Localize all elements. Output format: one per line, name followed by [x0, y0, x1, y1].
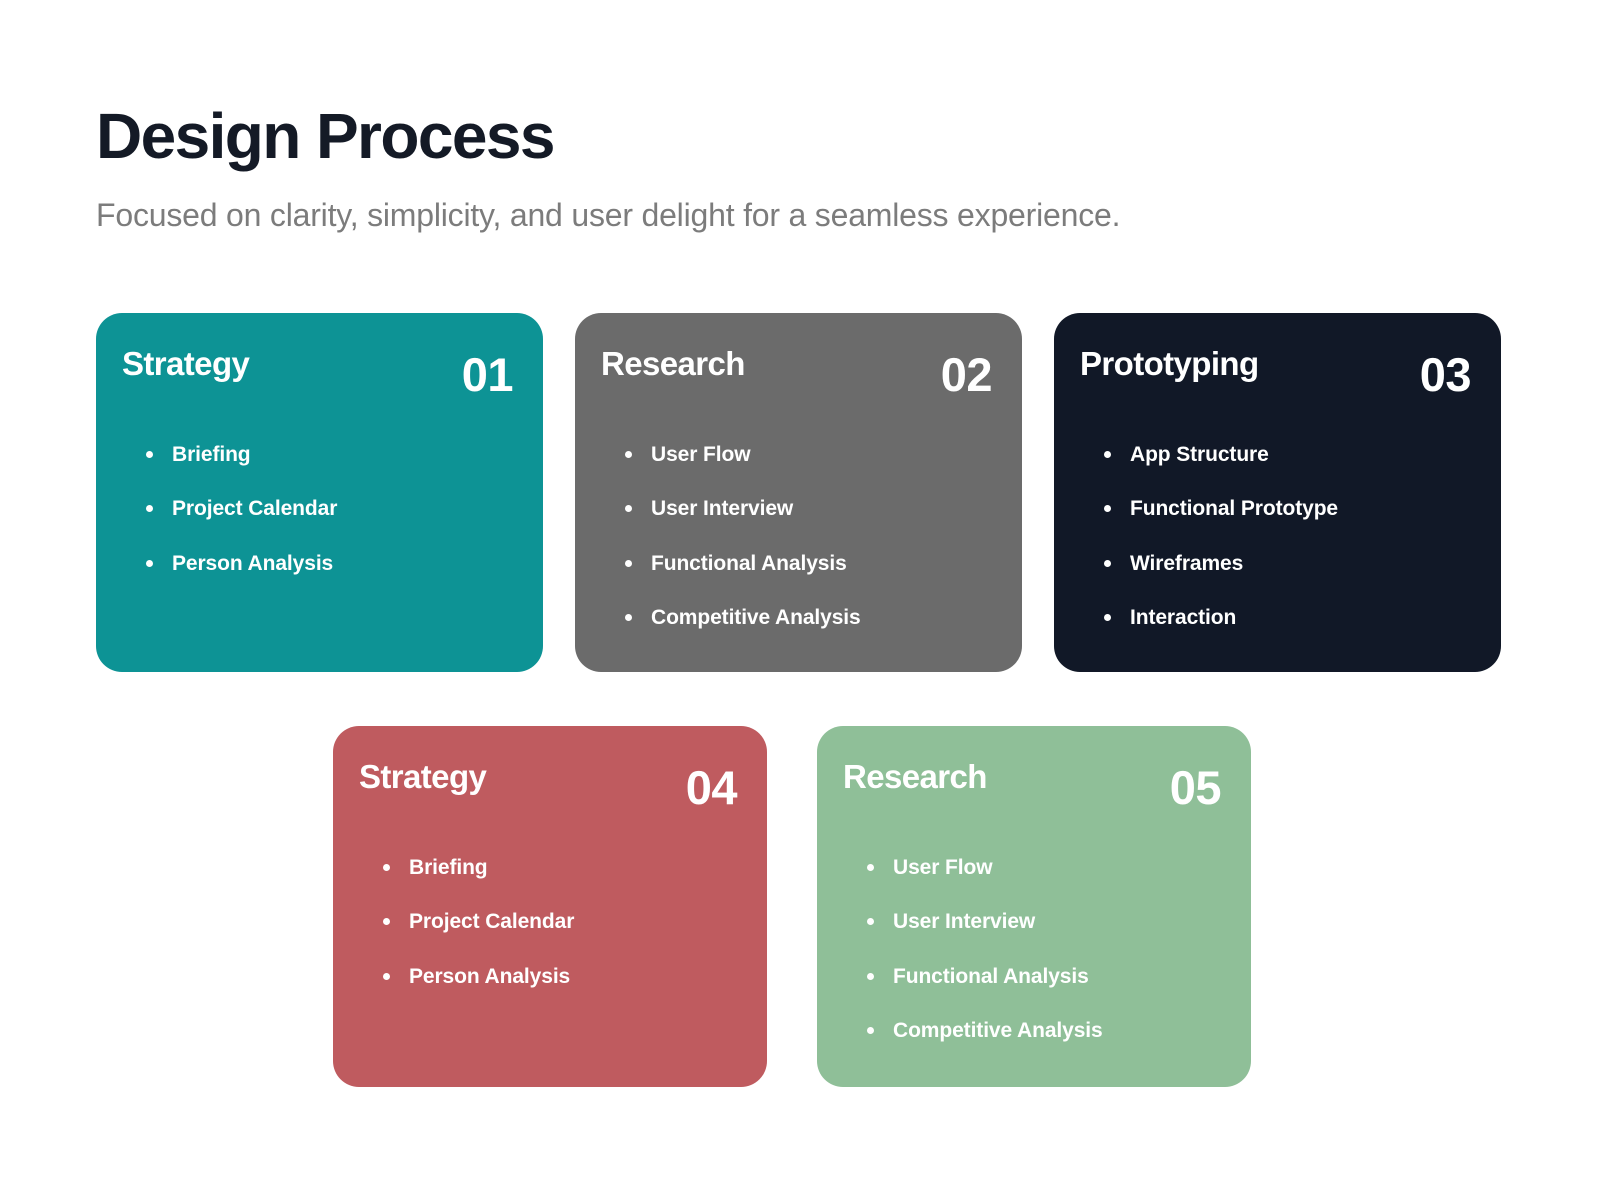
bullet-dot-icon: [867, 973, 874, 980]
list-item-label: Interaction: [1130, 606, 1236, 629]
process-card[interactable]: Research02User FlowUser InterviewFunctio…: [575, 313, 1022, 672]
bullet-dot-icon: [867, 864, 874, 871]
list-item: Project Calendar: [383, 909, 737, 934]
list-item: User Interview: [625, 496, 992, 521]
list-item: Competitive Analysis: [867, 1018, 1221, 1043]
card-number-badge: 05: [1160, 766, 1221, 809]
card-number-badge: 02: [931, 353, 992, 396]
bullet-dot-icon: [625, 505, 632, 512]
card-header: Prototyping03: [1080, 347, 1471, 396]
list-item-label: Person Analysis: [409, 965, 570, 988]
slide-canvas: Design Process Focused on clarity, simpl…: [0, 0, 1600, 1200]
card-header: Research02: [601, 347, 992, 396]
list-item-label: Functional Analysis: [651, 552, 847, 575]
card-header: Strategy04: [359, 760, 737, 809]
process-card[interactable]: Prototyping03App StructureFunctional Pro…: [1054, 313, 1501, 672]
list-item: User Flow: [867, 855, 1221, 880]
bullet-dot-icon: [1104, 451, 1111, 458]
bullet-dot-icon: [383, 973, 390, 980]
bullet-dot-icon: [867, 918, 874, 925]
page-title: Design Process: [96, 104, 1516, 168]
list-item: Functional Prototype: [1104, 496, 1471, 521]
card-title: Strategy: [122, 347, 249, 382]
bullet-dot-icon: [146, 505, 153, 512]
bullet-dot-icon: [146, 451, 153, 458]
list-item-label: App Structure: [1130, 443, 1269, 466]
list-item: Briefing: [146, 442, 513, 467]
card-number-badge: 04: [676, 766, 737, 809]
card-item-list: BriefingProject CalendarPerson Analysis: [122, 396, 513, 576]
card-title: Research: [601, 347, 745, 382]
list-item-label: User Interview: [651, 497, 793, 520]
list-item-label: Project Calendar: [409, 910, 574, 933]
list-item-label: Person Analysis: [172, 552, 333, 575]
card-header: Research05: [843, 760, 1221, 809]
card-title: Strategy: [359, 760, 486, 795]
list-item: User Interview: [867, 909, 1221, 934]
bullet-dot-icon: [625, 560, 632, 567]
bullet-dot-icon: [383, 918, 390, 925]
list-item-label: User Flow: [651, 443, 750, 466]
list-item: Wireframes: [1104, 551, 1471, 576]
bullet-dot-icon: [1104, 560, 1111, 567]
process-card[interactable]: Strategy04BriefingProject CalendarPerson…: [333, 726, 767, 1087]
list-item: Competitive Analysis: [625, 605, 992, 630]
card-item-list: App StructureFunctional PrototypeWirefra…: [1080, 396, 1471, 630]
list-item-label: Competitive Analysis: [651, 606, 861, 629]
list-item: Person Analysis: [383, 964, 737, 989]
card-title: Prototyping: [1080, 347, 1259, 382]
process-card[interactable]: Strategy01BriefingProject CalendarPerson…: [96, 313, 543, 672]
card-number-badge: 01: [452, 353, 513, 396]
list-item-label: Briefing: [409, 856, 488, 879]
card-row-bottom: Strategy04BriefingProject CalendarPerson…: [333, 726, 1251, 1087]
list-item-label: Briefing: [172, 443, 251, 466]
list-item: Interaction: [1104, 605, 1471, 630]
bullet-dot-icon: [625, 614, 632, 621]
list-item-label: Project Calendar: [172, 497, 337, 520]
list-item-label: Competitive Analysis: [893, 1019, 1103, 1042]
list-item-label: User Flow: [893, 856, 992, 879]
bullet-dot-icon: [1104, 505, 1111, 512]
bullet-dot-icon: [146, 560, 153, 567]
list-item: Person Analysis: [146, 551, 513, 576]
bullet-dot-icon: [383, 864, 390, 871]
bullet-dot-icon: [867, 1027, 874, 1034]
list-item: App Structure: [1104, 442, 1471, 467]
list-item-label: User Interview: [893, 910, 1035, 933]
card-number-badge: 03: [1410, 353, 1471, 396]
list-item-label: Functional Prototype: [1130, 497, 1338, 520]
page-subtitle: Focused on clarity, simplicity, and user…: [96, 168, 1516, 234]
process-card[interactable]: Research05User FlowUser InterviewFunctio…: [817, 726, 1251, 1087]
list-item-label: Functional Analysis: [893, 965, 1089, 988]
list-item-label: Wireframes: [1130, 552, 1243, 575]
header: Design Process Focused on clarity, simpl…: [96, 104, 1516, 234]
list-item: Functional Analysis: [867, 964, 1221, 989]
card-item-list: BriefingProject CalendarPerson Analysis: [359, 809, 737, 989]
card-item-list: User FlowUser InterviewFunctional Analys…: [843, 809, 1221, 1043]
list-item: Functional Analysis: [625, 551, 992, 576]
list-item: Project Calendar: [146, 496, 513, 521]
card-item-list: User FlowUser InterviewFunctional Analys…: [601, 396, 992, 630]
bullet-dot-icon: [625, 451, 632, 458]
list-item: User Flow: [625, 442, 992, 467]
bullet-dot-icon: [1104, 614, 1111, 621]
card-header: Strategy01: [122, 347, 513, 396]
card-row-top: Strategy01BriefingProject CalendarPerson…: [96, 313, 1501, 672]
card-title: Research: [843, 760, 987, 795]
list-item: Briefing: [383, 855, 737, 880]
